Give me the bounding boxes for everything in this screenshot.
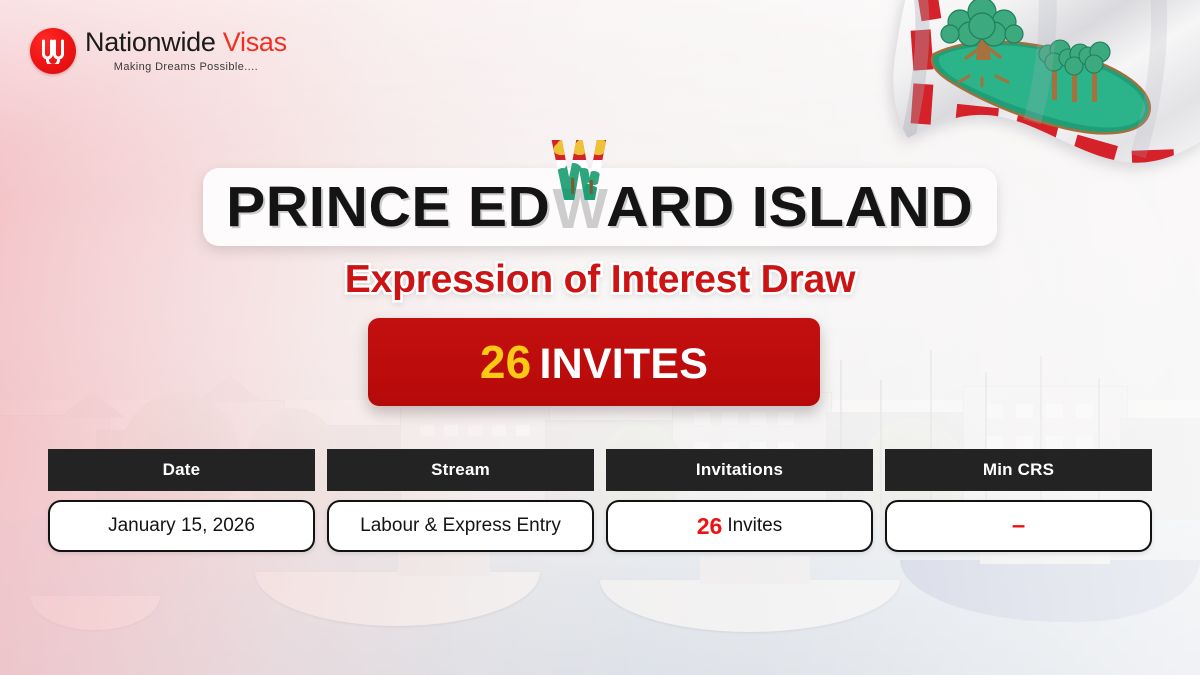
brand-name-secondary: Visas	[223, 27, 287, 57]
page-title-before: PRINCE ED	[226, 174, 550, 240]
table-cell-min-crs: –	[885, 500, 1152, 552]
column-header-date: Date	[48, 449, 315, 491]
brand-name-primary: Nationwide	[85, 27, 216, 57]
flag-filled-letter-w-icon: W	[551, 174, 607, 240]
table-cell-invitations-label: Invites	[727, 515, 782, 537]
column-header-stream: Stream	[327, 449, 594, 491]
brand-logo[interactable]: Nationwide Visas Making Dreams Possible.…	[30, 28, 287, 74]
table-cell-stream: Labour & Express Entry	[327, 500, 594, 552]
table-cell-stream-value: Labour & Express Entry	[360, 515, 561, 537]
table-column-stream: Stream Labour & Express Entry	[327, 449, 594, 552]
column-header-invitations: Invitations	[606, 449, 873, 491]
table-cell-invitations: 26 Invites	[606, 500, 873, 552]
table-column-invitations: Invitations 26 Invites	[606, 449, 873, 552]
nationwide-w-monogram-icon	[30, 28, 76, 74]
column-header-min-crs: Min CRS	[885, 449, 1152, 491]
page-subtitle: Expression of Interest Draw	[0, 258, 1200, 302]
brand-logo-text: Nationwide Visas Making Dreams Possible.…	[85, 29, 287, 73]
table-cell-invitations-count: 26	[697, 513, 723, 540]
draw-details-table: Date January 15, 2026 Stream Labour & Ex…	[48, 449, 1152, 552]
invites-banner: 26 INVITES	[368, 318, 820, 406]
prince-edward-island-flag-icon	[856, 0, 1200, 203]
table-column-min-crs: Min CRS –	[885, 449, 1152, 552]
table-column-date: Date January 15, 2026	[48, 449, 315, 552]
table-cell-min-crs-value: –	[1012, 514, 1025, 538]
table-cell-date: January 15, 2026	[48, 500, 315, 552]
poster-canvas: Nationwide Visas Making Dreams Possible.…	[0, 0, 1200, 675]
table-cell-date-value: January 15, 2026	[108, 515, 255, 537]
brand-tagline: Making Dreams Possible....	[114, 62, 258, 73]
invites-label: INVITES	[539, 340, 708, 389]
invites-banner-content: 26 INVITES	[480, 335, 708, 389]
brand-name: Nationwide Visas	[85, 29, 287, 56]
invites-count: 26	[480, 335, 532, 389]
